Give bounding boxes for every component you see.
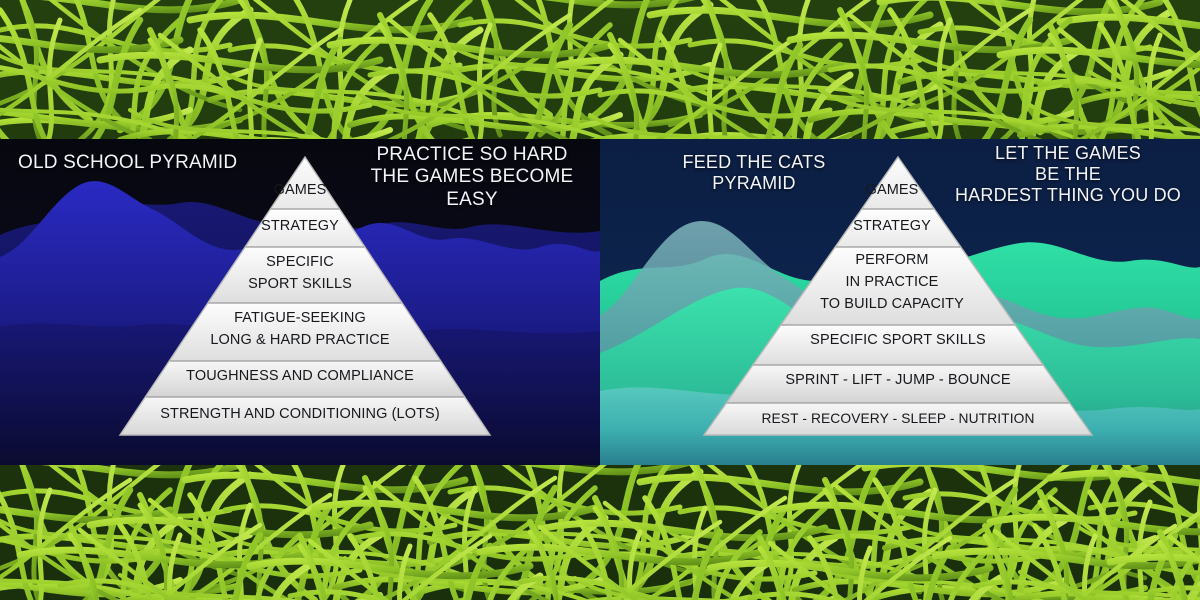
panel-old-school-pyramid: OLD SCHOOL PYRAMID PRACTICE SO HARD THE … (0, 139, 600, 465)
pyramid-shape-icon (0, 139, 600, 465)
slide-canvas: OLD SCHOOL PYRAMID PRACTICE SO HARD THE … (0, 0, 1200, 600)
slide-panels-row: OLD SCHOOL PYRAMID PRACTICE SO HARD THE … (0, 139, 1200, 465)
pyramid-feed-the-cats: GAMES STRATEGY PERFORM IN PRACTICE TO BU… (600, 139, 1200, 465)
panel-feed-the-cats-pyramid: FEED THE CATS PYRAMID LET THE GAMES BE T… (600, 139, 1200, 465)
pyramid-shape-icon (600, 139, 1200, 465)
pyramid-old-school: GAMES STRATEGY SPECIFIC SPORT SKILLS FAT… (0, 139, 600, 465)
